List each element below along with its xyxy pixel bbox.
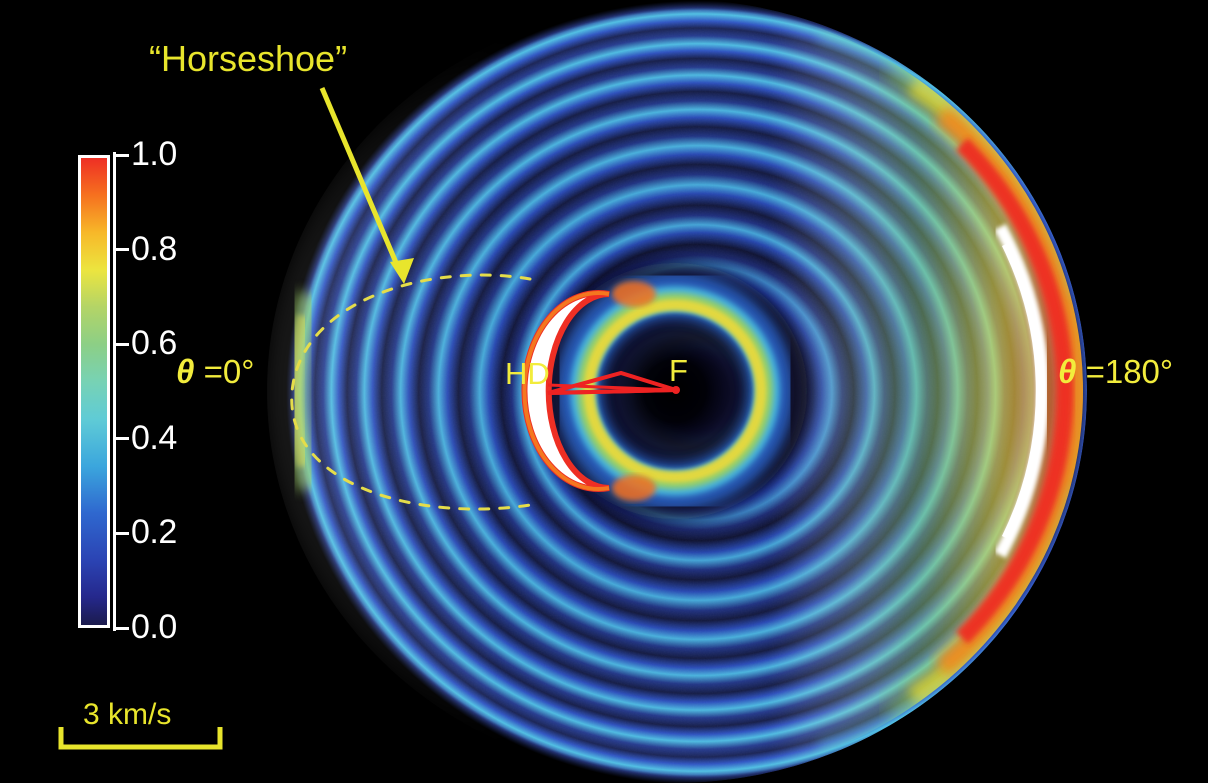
theta-left-label: θ =0° [176, 355, 254, 388]
theta-right-value: =180° [1076, 353, 1173, 390]
colorbar-axis-spine [113, 152, 116, 631]
colorbar-tick-label: 0.8 [131, 232, 177, 266]
theta-right-label: θ =180° [1058, 355, 1173, 388]
colorbar-tick-label: 1.0 [131, 137, 177, 171]
theta-symbol-left: θ [176, 353, 194, 390]
central-region [524, 263, 807, 519]
colorbar-tick-label: 0.2 [131, 515, 177, 549]
theta-symbol-right: θ [1058, 353, 1076, 390]
hd-label: HD [505, 358, 550, 389]
scalebar-label: 3 km/s [83, 700, 171, 730]
velocity-map-image [200, 0, 1100, 783]
horseshoe-label: “Horseshoe” [149, 41, 347, 77]
colorbar-tick-label: 0.6 [131, 326, 177, 360]
colorbar [78, 155, 110, 628]
colorbar-tick [113, 343, 129, 346]
colorbar-tick [113, 437, 129, 440]
colorbar-gradient [81, 158, 107, 625]
colorbar-tick [113, 627, 129, 630]
colorbar-tick-label: 0.4 [131, 421, 177, 455]
left-arc [296, 294, 310, 488]
colorbar-tick [113, 154, 129, 157]
colorbar-tick-label: 0.0 [131, 610, 177, 644]
theta-left-value: =0° [194, 353, 254, 390]
f-label: F [669, 355, 688, 386]
figure-canvas: “Horseshoe” θ =0° θ =180° HD F 3 km/s 1.… [0, 0, 1208, 783]
colorbar-tick [113, 248, 129, 251]
colorbar-tick [113, 532, 129, 535]
